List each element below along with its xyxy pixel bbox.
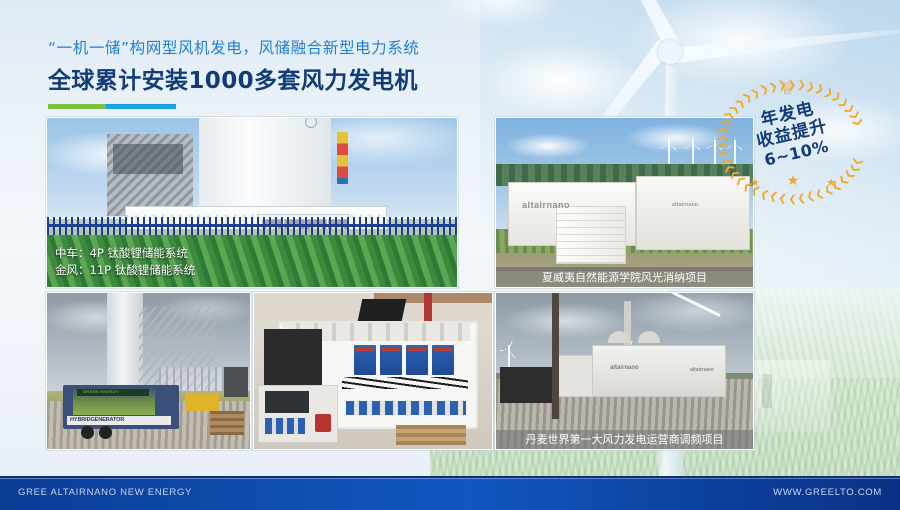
crown-icon: ♕ [780,80,795,97]
photo1-turbine-tower-base [199,117,331,218]
photo2-caption: 夏威夷自然能源学院风光消纳项目 [496,268,753,287]
footer-website[interactable]: WWW.GREELTO.COM [773,487,882,498]
photo3-yellow-machine [185,393,219,411]
photo1-caption: 中车：4P 钛酸锂储能系统 金风：11P 钛酸锂储能系统 [55,245,195,279]
photo4-black-panel [264,329,322,389]
photo3-green-energy-label [77,389,149,396]
photo4-inverter-module [354,345,376,375]
wreath-leaf-icon: ❯ [788,195,797,204]
photo2-foreground-unit [556,206,626,264]
slide-root: “一机一储”构网型风机发电，风储融合新型电力系统 全球累计安装1000多套风力发… [0,0,900,510]
photo5-utility-pole [552,293,559,419]
photo1-warning-signs [337,132,348,184]
page-subtitle: “一机一储”构网型风机发电，风储融合新型电力系统 [48,36,419,58]
wreath-leaf-icon: ❯ [777,193,787,203]
photo4-inverter-module [380,345,402,375]
photo4-left-rig [258,385,338,443]
photo3-trailer-wheel [99,426,112,439]
photo4-pallet [396,425,466,445]
footer-company-name: GREE ALTAIRNANO NEW ENERGY [18,487,192,498]
photo5-brand-label-small: altairnano [690,367,714,373]
photo4-inverter-module [406,345,428,375]
photo-denmark-site[interactable]: altairnano altairnano 丹麦世界第一大风力发电运营商调频项目 [495,292,754,450]
accent-segment-blue [106,104,176,109]
photo4-cabling [342,377,468,389]
photo4-black-hood [358,299,407,321]
photo5-dark-container [500,367,552,403]
title-accent-bar [48,104,176,109]
photo-inverter-interior[interactable] [253,292,493,450]
photo3-hybrid-generator-label [67,416,171,425]
wreath-leaf-icon: ❯ [796,193,806,203]
photo3-dark-bin [224,367,248,397]
photo4-connector-row [346,401,466,415]
photo-grid: 中车：4P 钛酸锂储能系统 金风：11P 钛酸锂储能系统 altairnano … [46,117,752,448]
footer-bar: GREE ALTAIRNANO NEW ENERGY WWW.GREELTO.C… [0,476,900,510]
photo1-caption-line2: 金风：11P 钛酸锂储能系统 [55,262,195,279]
photo2-brand-label: altairnano [522,200,570,210]
photo5-brand-label: altairnano [610,365,639,371]
page-title: 全球累计安装1000多套风力发电机 [48,61,419,95]
turbine-hub [658,40,682,64]
star-icon: ★ [787,175,800,189]
photo-bess-cornfield[interactable]: 中车：4P 钛酸锂储能系统 金风：11P 钛酸锂储能系统 [46,117,458,288]
star-icon: ★ [826,178,836,189]
photo4-inverter-module [432,345,454,375]
badge-stars: ★ ★ ★ [750,178,836,189]
photo3-turbine-tower [107,292,143,391]
header: “一机一储”构网型风机发电，风储融合新型电力系统 全球累计安装1000多套风力发… [48,36,419,109]
photo4-blue-sockets [265,418,305,434]
photo5-caption: 丹麦世界第一大风力发电运营商调频项目 [496,430,753,449]
photo-hybrid-generator-trailer[interactable] [46,292,251,450]
photo4-red-post [424,293,432,321]
accent-segment-green [48,104,106,109]
photo4-screen [265,391,309,413]
photo4-red-socket [315,414,331,432]
photo3-trailer-wheel [81,426,94,439]
photo2-brand-label-small: altairnano [672,202,698,208]
highlight-badge: ❯❯❯❯❯❯❯❯❯❯❯❯❯❯❯❯❯❯❯❯❯❯❯❯❯❯❯❯❯❯❯❯❯❯❯❯❯❯❯❯… [716,82,868,202]
photo1-caption-line1: 中车：4P 钛酸锂储能系统 [55,245,195,262]
photo2-unit-slats [557,207,625,263]
star-icon: ★ [750,178,760,189]
photo3-trailer [63,385,179,429]
photo3-wooden-crate [210,411,244,435]
photo1-grey-structure [107,134,193,216]
